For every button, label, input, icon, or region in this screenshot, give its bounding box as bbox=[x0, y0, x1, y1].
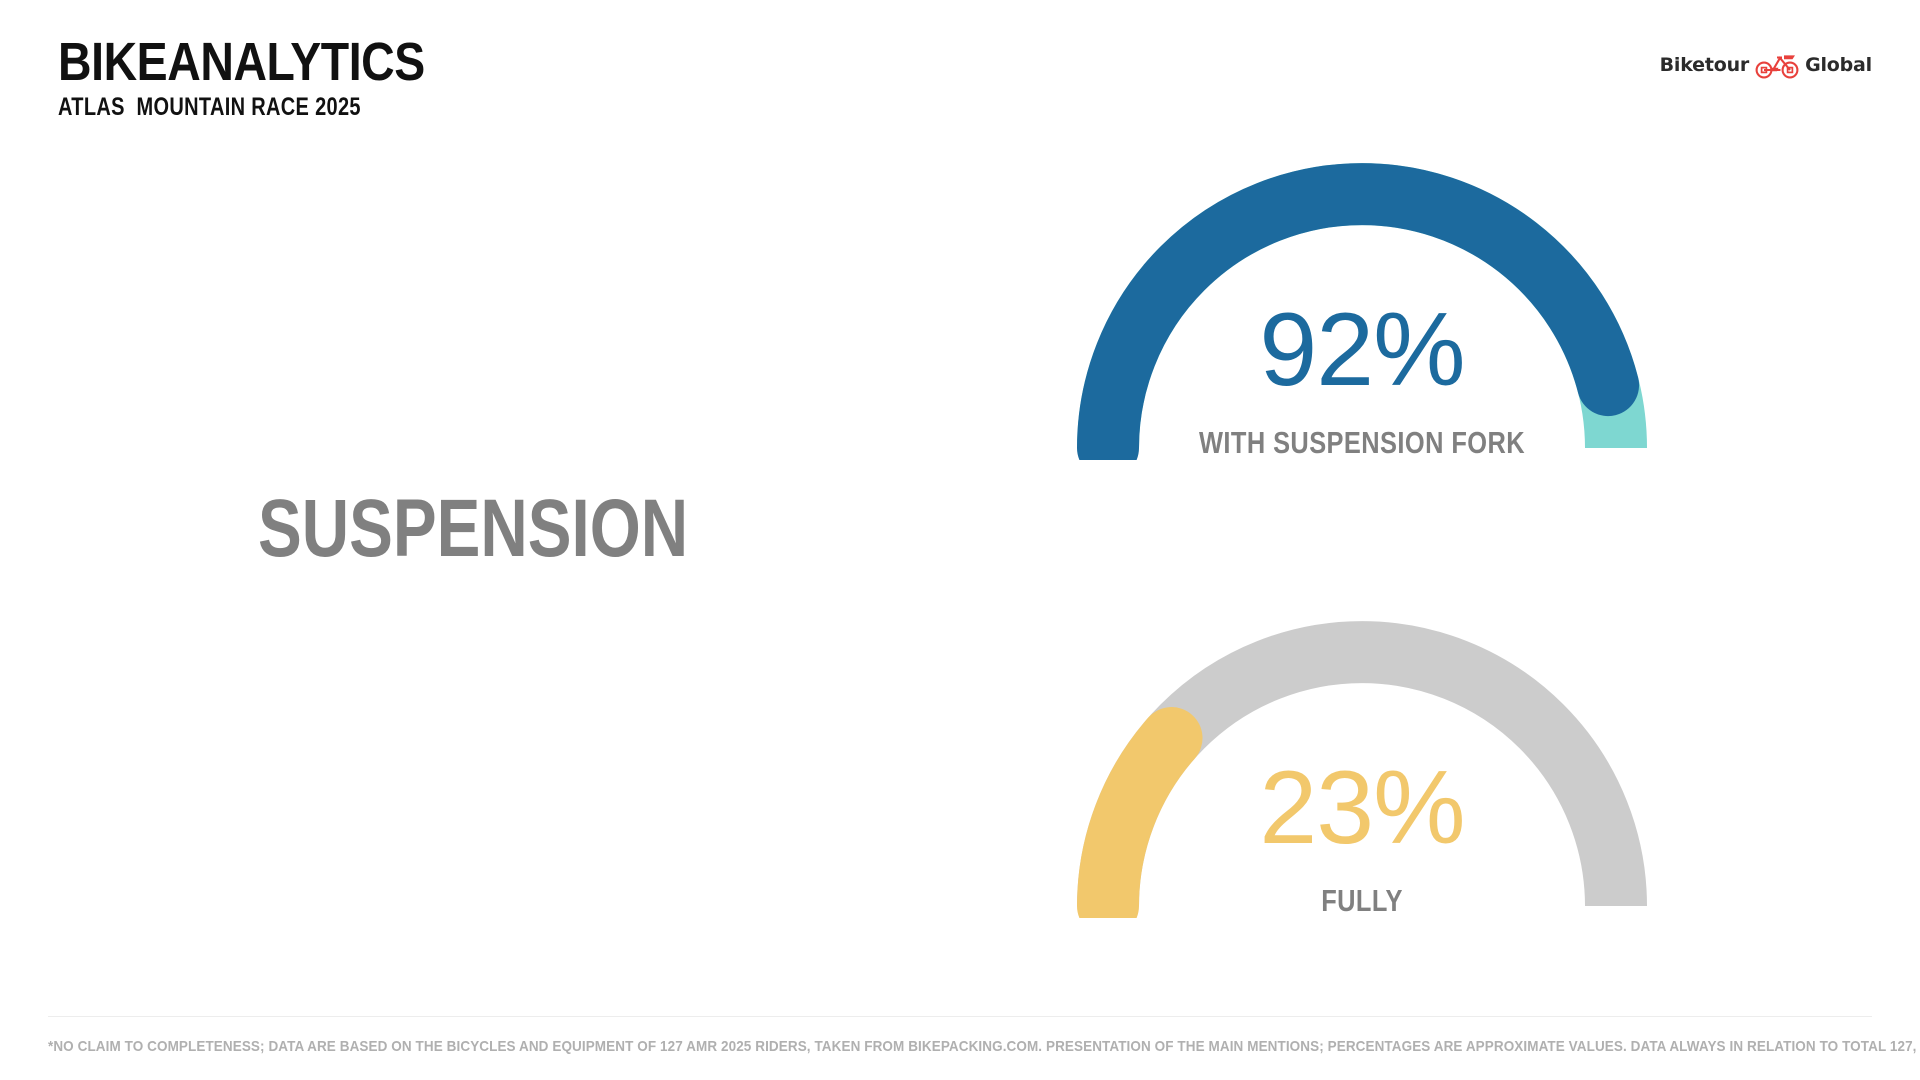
header-brand: BIKEANALYTICS ATLAS MOUNTAIN RACE 2025 bbox=[58, 34, 485, 122]
bicycle-icon bbox=[1751, 50, 1803, 80]
gauge-value-fork: 92% bbox=[1042, 298, 1682, 402]
gauge-caption-fully: FULLY bbox=[1100, 884, 1625, 918]
footer-disclaimer: *NO CLAIM TO COMPLETENESS; DATA ARE BASE… bbox=[48, 1038, 1695, 1056]
gauge-with-suspension-fork: 92% WITH SUSPENSION FORK bbox=[1042, 130, 1682, 460]
gauge-fully: 23% FULLY bbox=[1042, 588, 1682, 918]
gauge-caption-fork: WITH SUSPENSION FORK bbox=[1100, 426, 1625, 460]
slide-canvas: BIKEANALYTICS ATLAS MOUNTAIN RACE 2025 B… bbox=[0, 0, 1920, 1080]
page-subtitle: ATLAS MOUNTAIN RACE 2025 bbox=[58, 92, 399, 122]
gauge-value-fully: 23% bbox=[1042, 756, 1682, 860]
page-title: BIKEANALYTICS bbox=[58, 34, 425, 90]
partner-logo: Biketour Global bbox=[1660, 48, 1872, 82]
section-title: SUSPENSION bbox=[258, 486, 688, 572]
partner-logo-word-left: Biketour bbox=[1660, 56, 1749, 75]
partner-logo-word-right: Global bbox=[1805, 56, 1872, 75]
footer-divider bbox=[48, 1016, 1872, 1017]
